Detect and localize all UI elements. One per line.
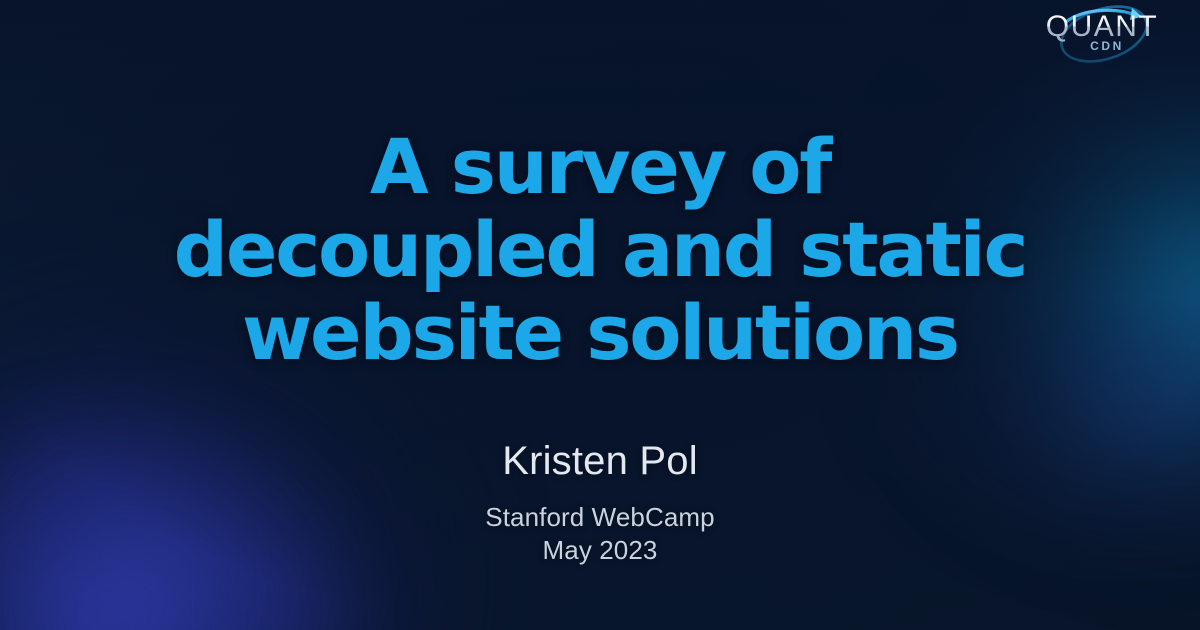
title-line-3: website solutions (40, 296, 1160, 371)
title-line-1: A survey of (40, 130, 1160, 205)
event-name: Stanford WebCamp (485, 501, 714, 535)
logo-submark: CDN (1090, 39, 1124, 53)
quant-cdn-logo[interactable]: QUANT CDN (1018, 4, 1186, 66)
slide-content: A survey of decoupled and static website… (0, 0, 1200, 630)
event-details: Stanford WebCamp May 2023 (485, 501, 714, 569)
event-date: May 2023 (485, 534, 714, 568)
title-slide: QUANT CDN A survey of decoupled and stat… (0, 0, 1200, 630)
speaker-name: Kristen Pol (502, 439, 698, 484)
title-line-2: decoupled and static (40, 213, 1160, 288)
